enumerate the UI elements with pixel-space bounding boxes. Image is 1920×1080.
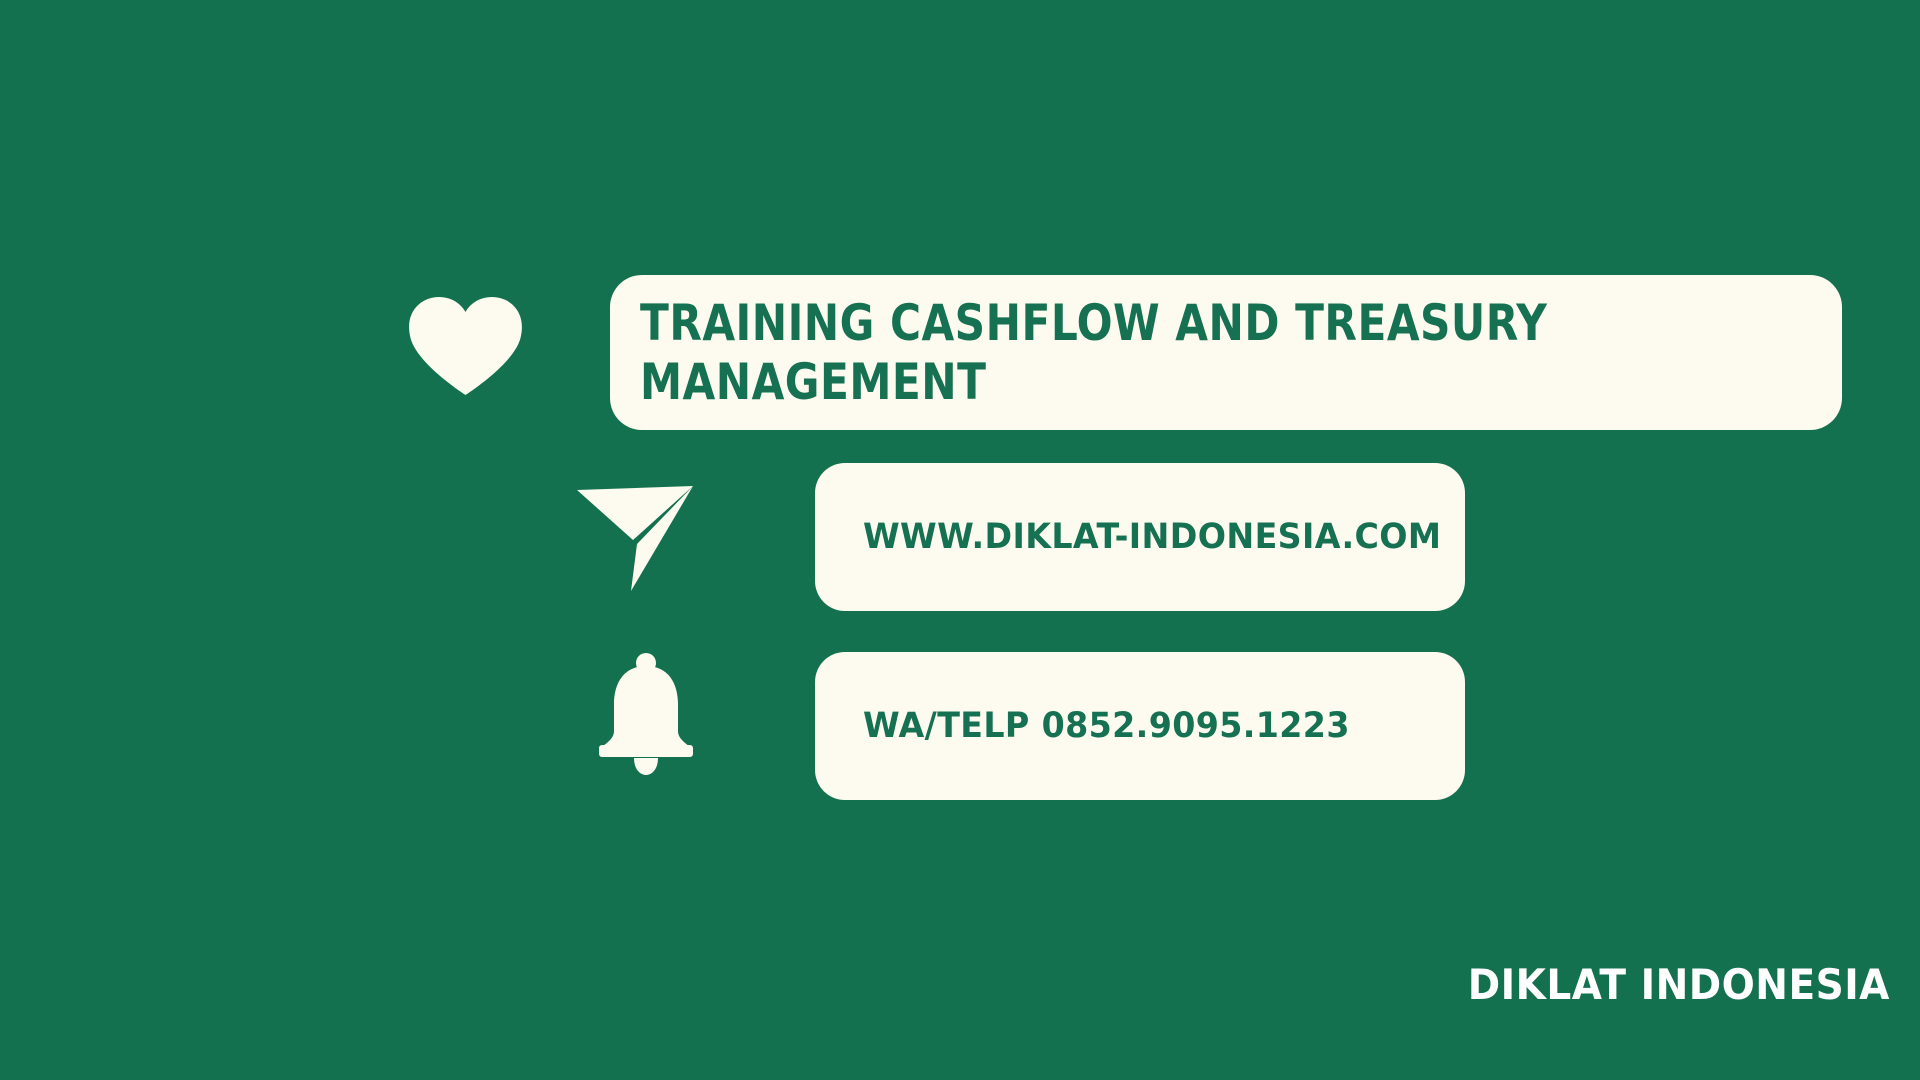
title-card: Training Cashflow and Treasury Managemen… [610, 275, 1842, 430]
brand-name: Diklat Indonesia [1468, 960, 1890, 1009]
page-title: Training Cashflow and Treasury Managemen… [640, 294, 1747, 411]
phone-pill[interactable]: WA/Telp 0852.9095.1223 [815, 652, 1465, 800]
phone-label: WA/Telp 0852.9095.1223 [863, 706, 1350, 746]
promo-banner: Training Cashflow and Treasury Managemen… [0, 0, 1920, 1080]
website-label: www.diklat-indonesia.com [863, 517, 1441, 557]
paper-plane-icon [575, 478, 695, 593]
bell-icon [597, 652, 695, 777]
website-pill[interactable]: www.diklat-indonesia.com [815, 463, 1465, 611]
heart-icon [408, 297, 523, 395]
